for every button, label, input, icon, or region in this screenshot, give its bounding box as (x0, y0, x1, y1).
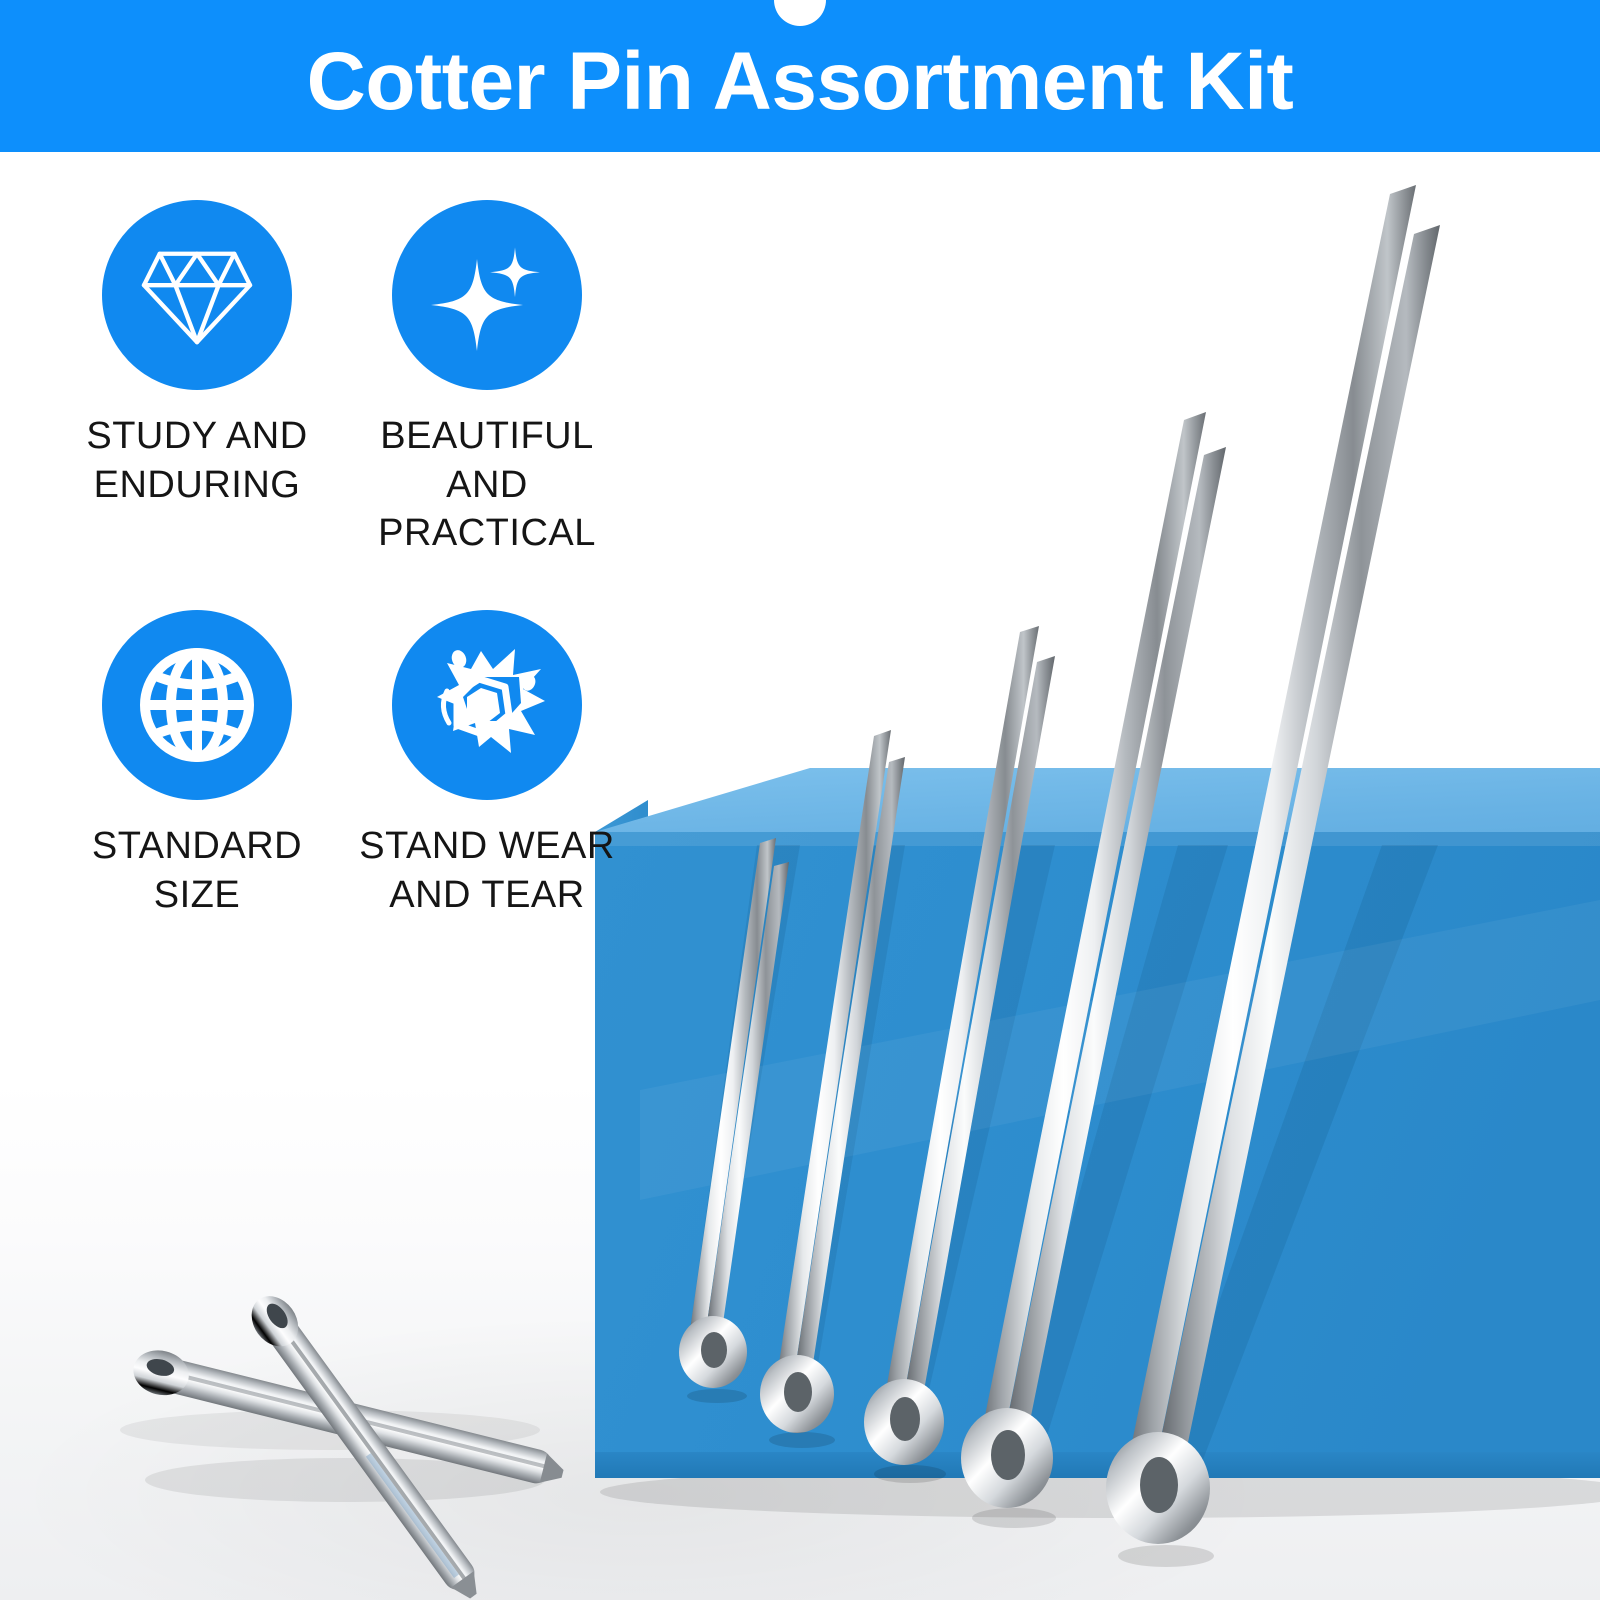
feature-icon-circle-3 (102, 610, 292, 800)
globe-icon (135, 643, 259, 767)
product-marketing-image: STUDY AND ENDURING BEAUTIFUL AND PRACTIC… (0, 0, 1600, 1600)
feature-icon-circle-1 (102, 200, 292, 390)
floor-shadow-vignette (0, 1180, 1600, 1600)
feature-icon-circle-2 (392, 200, 582, 390)
feature-item-sturdy[interactable]: STUDY AND ENDURING (52, 200, 342, 558)
impact-shield-icon (423, 643, 551, 767)
block-top-edge-highlight (595, 832, 1600, 846)
feature-item-standard-size[interactable]: STANDARD SIZE (52, 610, 342, 919)
feature-label-2: BEAUTIFUL AND PRACTICAL (342, 412, 632, 558)
feature-label-3: STANDARD SIZE (92, 822, 302, 919)
sparkle-icon (425, 233, 549, 357)
feature-label-1: STUDY AND ENDURING (86, 412, 307, 509)
diamond-icon (138, 240, 256, 350)
feature-icon-circle-4 (392, 610, 582, 800)
feature-item-wear-resistant[interactable]: STAND WEAR AND TEAR (342, 610, 632, 919)
block-top-face (595, 768, 1600, 905)
feature-label-4: STAND WEAR AND TEAR (359, 822, 615, 919)
feature-list: STUDY AND ENDURING BEAUTIFUL AND PRACTIC… (52, 200, 652, 919)
feature-item-beautiful[interactable]: BEAUTIFUL AND PRACTICAL (342, 200, 632, 558)
